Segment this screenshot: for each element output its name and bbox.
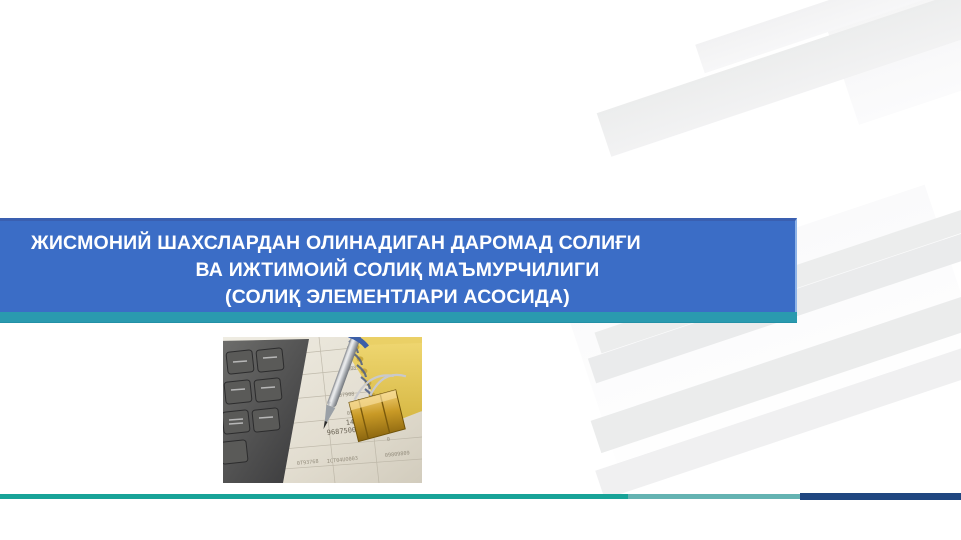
decorative-diagonal-band-top-right-1 (597, 0, 961, 157)
decorative-diagonal-band-top-right-3 (821, 0, 961, 125)
footer-rule-navy (800, 493, 961, 500)
title-line-2: ВА ИЖТИМОИЙ СОЛИҚ МАЪМУРЧИЛИГИ (0, 257, 795, 284)
title-banner-accent-strip (0, 312, 797, 323)
decorative-diagonal-band-top-right-2 (695, 0, 961, 73)
photo-illustration: 87908 87908 09080011 09080011 9GH4138L 0… (223, 337, 422, 483)
footer-rule-teal-light (628, 494, 800, 499)
footer-rule-teal (0, 494, 630, 499)
title-line-3: (СОЛИҚ ЭЛЕМЕНТЛАРИ АСОСИДА) (0, 284, 795, 311)
svg-text:0: 0 (387, 437, 391, 443)
title-line-1: ЖИСМОНИЙ ШАХСЛАРДАН ОЛИНАДИГАН ДАРОМАД С… (0, 230, 795, 257)
slide-canvas: ЖИСМОНИЙ ШАХСЛАРДАН ОЛИНАДИГАН ДАРОМАД С… (0, 0, 961, 540)
title-banner: ЖИСМОНИЙ ШАХСЛАРДАН ОЛИНАДИГАН ДАРОМАД С… (0, 218, 797, 322)
decorative-diagonal-band-bottom-right-2 (595, 334, 961, 499)
photo-calculator-pen-document: 87908 87908 09080011 09080011 9GH4138L 0… (223, 337, 422, 483)
